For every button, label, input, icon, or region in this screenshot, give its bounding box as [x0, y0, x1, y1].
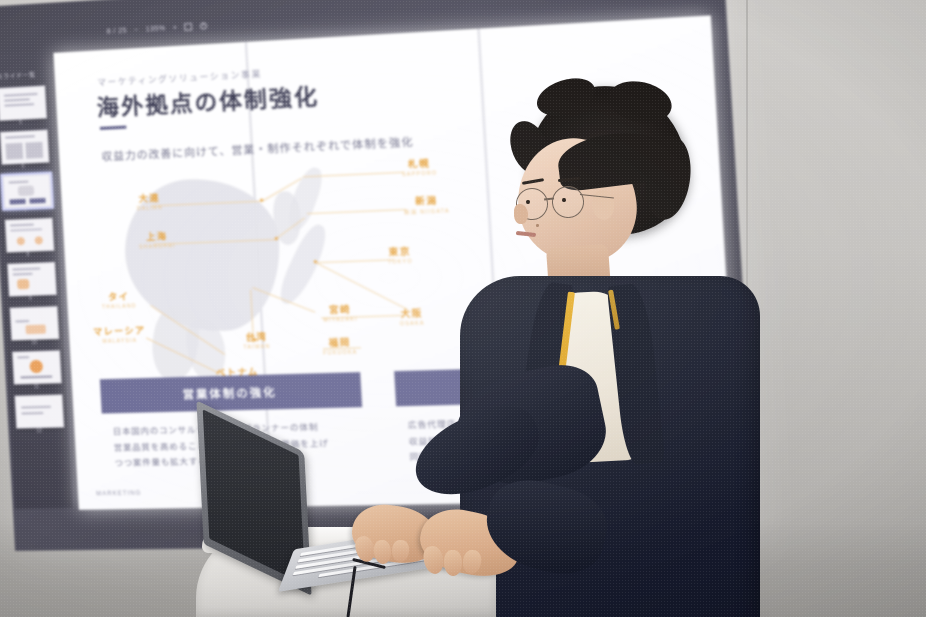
screenshot-root: 8 / 25 − 135% + スライド一覧: [0, 0, 926, 617]
lighting-vignette: [0, 0, 926, 617]
